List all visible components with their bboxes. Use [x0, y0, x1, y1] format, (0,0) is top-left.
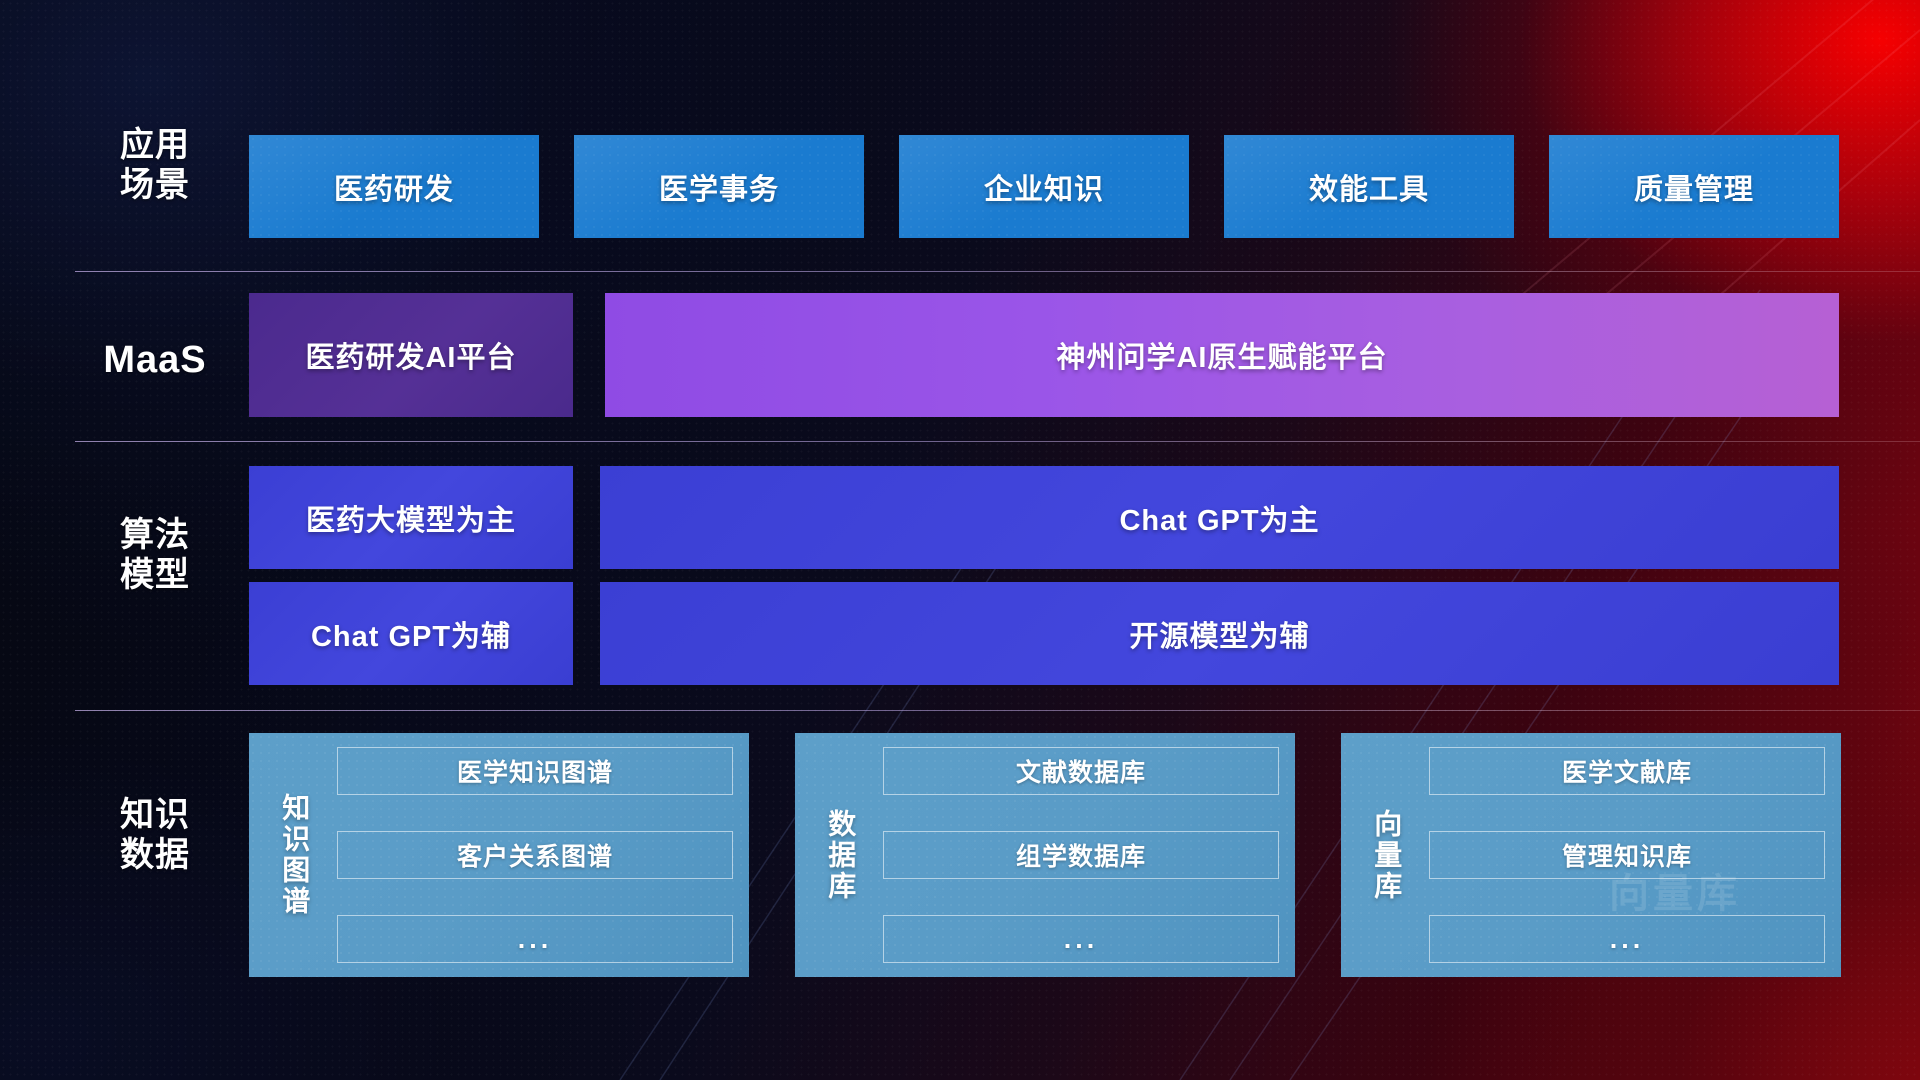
row-label-knowledge: 知识 数据	[85, 795, 225, 875]
row-label-algorithm-line1: 算法	[85, 515, 225, 555]
architecture-diagram: 应用 场景 医药研发 医学事务 企业知识 效能工具 质量管理 MaaS 医药研发…	[0, 0, 1920, 1080]
knowledge-item[interactable]: 文献数据库	[883, 747, 1279, 795]
knowledge-item[interactable]: 客户关系图谱	[337, 831, 733, 879]
app-box-4[interactable]: 质量管理	[1549, 135, 1839, 238]
knowledge-group-2[interactable]: 向量库 向量库 医学文献库 管理知识库 ...	[1341, 733, 1841, 977]
row-label-application-line2: 场景	[85, 165, 225, 205]
maas-left-box[interactable]: 医药研发AI平台	[249, 293, 573, 417]
app-box-3[interactable]: 效能工具	[1224, 135, 1514, 238]
knowledge-group-2-items: 医学文献库 管理知识库 ...	[1429, 747, 1825, 963]
algo-right-box-1[interactable]: 开源模型为辅	[600, 582, 1839, 685]
knowledge-item[interactable]: 组学数据库	[883, 831, 1279, 879]
algo-left-box-1[interactable]: Chat GPT为辅	[249, 582, 573, 685]
knowledge-group-0[interactable]: 知识图谱 医学知识图谱 客户关系图谱 ...	[249, 733, 749, 977]
algo-right-box-0[interactable]: Chat GPT为主	[600, 466, 1839, 569]
knowledge-item[interactable]: 医学文献库	[1429, 747, 1825, 795]
row-label-application-line1: 应用	[85, 125, 225, 165]
row-label-maas: MaaS	[85, 338, 225, 383]
app-box-2[interactable]: 企业知识	[899, 135, 1189, 238]
knowledge-item[interactable]: 医学知识图谱	[337, 747, 733, 795]
divider-1	[75, 271, 1920, 272]
knowledge-group-2-title: 向量库	[1357, 809, 1415, 902]
row-label-application: 应用 场景	[85, 125, 225, 205]
app-box-0[interactable]: 医药研发	[249, 135, 539, 238]
algo-left-box-0[interactable]: 医药大模型为主	[249, 466, 573, 569]
row-label-knowledge-line1: 知识	[85, 795, 225, 835]
knowledge-item[interactable]: 管理知识库	[1429, 831, 1825, 879]
app-box-1[interactable]: 医学事务	[574, 135, 864, 238]
row-label-algorithm-line2: 模型	[85, 555, 225, 595]
knowledge-group-0-title: 知识图谱	[265, 793, 323, 917]
divider-3	[75, 710, 1920, 711]
knowledge-item[interactable]: ...	[337, 915, 733, 963]
knowledge-item[interactable]: ...	[1429, 915, 1825, 963]
knowledge-item[interactable]: ...	[883, 915, 1279, 963]
knowledge-group-1[interactable]: 数据库 文献数据库 组学数据库 ...	[795, 733, 1295, 977]
knowledge-group-1-items: 文献数据库 组学数据库 ...	[883, 747, 1279, 963]
row-label-algorithm: 算法 模型	[85, 515, 225, 595]
divider-2	[75, 441, 1920, 442]
knowledge-group-1-title: 数据库	[811, 809, 869, 902]
knowledge-group-0-items: 医学知识图谱 客户关系图谱 ...	[337, 747, 733, 963]
maas-platform-box[interactable]: 神州问学AI原生赋能平台	[605, 293, 1839, 417]
row-label-knowledge-line2: 数据	[85, 835, 225, 875]
